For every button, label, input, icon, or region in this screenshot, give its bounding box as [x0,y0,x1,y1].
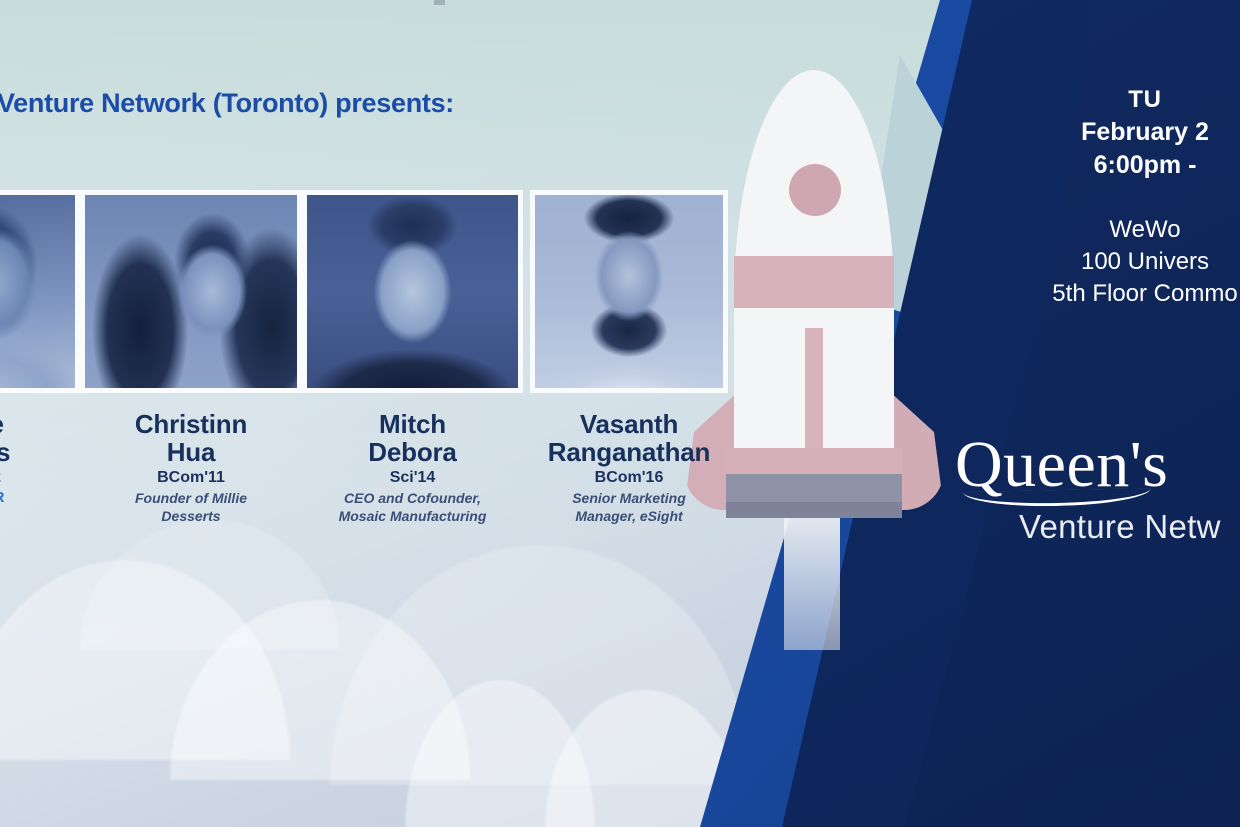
speaker-card: Mitch Debora Sci'14 CEO and Cofounder, M… [307,195,518,525]
event-date: February 2 [980,118,1240,147]
speaker-card: Christinn Hua BCom'11 Founder of Millie … [85,195,297,525]
rocket-window-icon [789,164,841,216]
event-banner: en's Venture Network (Toronto) presents:… [0,0,1240,827]
avatar [0,195,75,388]
avatar [535,195,723,388]
queens-swoosh-icon [963,488,1151,508]
speaker-name: Vasanth Ranganathan [535,410,723,466]
speaker-role-badge: ERATOR [0,489,80,506]
speaker-title: Founder of Millie Desserts [85,490,297,525]
page-title: en's Venture Network (Toronto) presents: [0,88,454,119]
speaker-card: Katie Hayes Com'12 ERATOR [0,195,80,506]
image-artifact [434,0,445,5]
event-details: TU February 2 6:00pm - WeWo 100 Univers … [980,86,1240,312]
rocket-band-icon [734,256,894,308]
speaker-name: Christinn Hua [85,410,297,466]
rocket-exhaust-icon [784,500,840,650]
speaker-grad-year: Com'12 [0,469,80,487]
rocket-illustration [686,70,938,570]
speaker-grad-year: Sci'14 [307,469,518,487]
speaker-card: Vasanth Ranganathan BCom'16 Senior Marke… [535,195,723,525]
event-day: TU [980,86,1240,114]
avatar [307,195,518,388]
speaker-name: Mitch Debora [307,410,518,466]
speaker-name: Katie Hayes [0,410,80,466]
avatar [85,195,297,388]
rocket-nozzle-shade-icon [726,502,902,518]
event-room: 5th Floor Commo [980,280,1240,308]
speaker-title: CEO and Cofounder, Mosaic Manufacturing [307,490,518,525]
event-address: 100 Univers [980,248,1240,276]
event-time: 6:00pm - [980,151,1240,180]
event-venue: WeWo [980,216,1240,244]
rocket-base-icon [726,448,902,474]
speaker-title: Senior Marketing Manager, eSight [535,490,723,525]
speaker-grad-year: BCom'16 [535,469,723,487]
logo-subtitle: Venture Netw [1019,508,1221,546]
queens-venture-network-logo: Queen's Venture Netw [955,432,1221,546]
speaker-grad-year: BCom'11 [85,469,297,487]
